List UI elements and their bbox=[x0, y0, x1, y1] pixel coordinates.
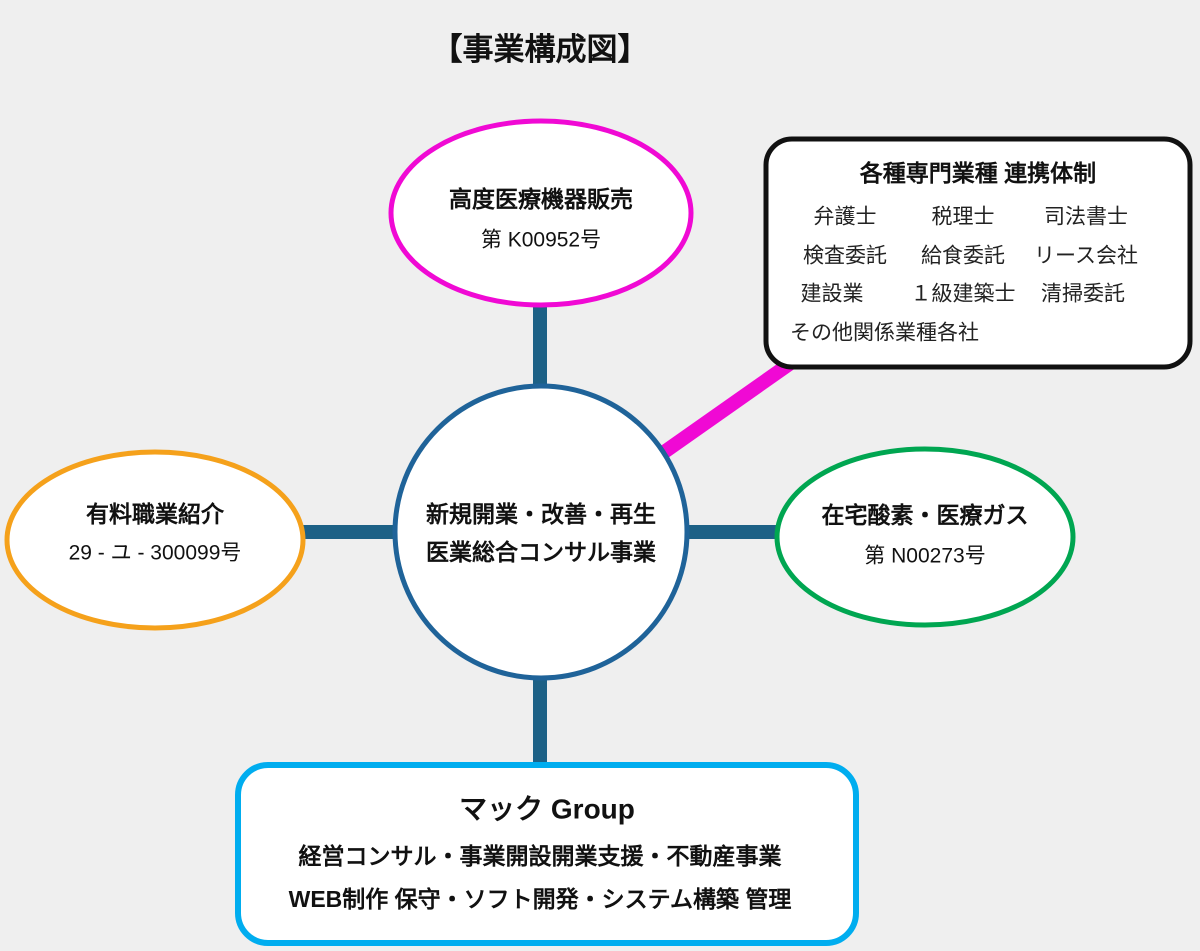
partners-cell-r1c2: リース会社 bbox=[1034, 245, 1138, 268]
node-home-oxygen-medical-gas-license: 第 N00273号 bbox=[864, 545, 985, 568]
diagram-canvas: 【事業構成図】 高度医療機器販売 第 K00952号 有料職業紹介 29 - ユ… bbox=[0, 0, 1200, 951]
connector-center-to-partners bbox=[660, 360, 795, 455]
partners-box[interactable]: 各種専門業種 連携体制 弁護士 税理士 司法書士 検査委託 給食委託 リース会社… bbox=[766, 139, 1190, 367]
node-advanced-medical-equipment-shape bbox=[391, 121, 691, 305]
group-box[interactable]: マック Group 経営コンサル・事業開設開業支援・不動産事業 WEB制作 保守… bbox=[238, 765, 856, 943]
node-center-consulting[interactable]: 新規開業・改善・再生 医業総合コンサル事業 bbox=[395, 386, 687, 678]
group-box-title: マック Group bbox=[459, 793, 635, 824]
node-center-consulting-line-1: 新規開業・改善・再生 bbox=[426, 501, 656, 527]
node-center-consulting-line-2: 医業総合コンサル事業 bbox=[426, 539, 657, 565]
node-paid-job-placement-shape bbox=[7, 452, 303, 628]
partners-cell-r1c1: 給食委託 bbox=[921, 245, 1005, 268]
partners-cell-r2c2: 清掃委託 bbox=[1041, 283, 1125, 306]
node-advanced-medical-equipment-license: 第 K00952号 bbox=[481, 229, 601, 252]
business-structure-diagram: 【事業構成図】 高度医療機器販売 第 K00952号 有料職業紹介 29 - ユ… bbox=[0, 0, 1200, 951]
partners-cell-r0c2: 司法書士 bbox=[1044, 206, 1128, 229]
node-advanced-medical-equipment-title: 高度医療機器販売 bbox=[449, 186, 633, 212]
partners-cell-r0c0: 弁護士 bbox=[814, 206, 877, 229]
partners-box-title: 各種専門業種 連携体制 bbox=[859, 160, 1096, 186]
node-home-oxygen-medical-gas-shape bbox=[777, 449, 1073, 625]
group-box-line-1: 経営コンサル・事業開設開業支援・不動産事業 bbox=[299, 843, 783, 869]
page-title: 【事業構成図】 bbox=[432, 32, 649, 67]
node-paid-job-placement-title: 有料職業紹介 bbox=[86, 501, 225, 527]
partners-box-footer: その他関係業種各社 bbox=[790, 322, 979, 345]
node-paid-job-placement-license: 29 - ユ - 300099号 bbox=[69, 542, 242, 565]
node-home-oxygen-medical-gas[interactable]: 在宅酸素・医療ガス 第 N00273号 bbox=[777, 449, 1073, 625]
node-paid-job-placement[interactable]: 有料職業紹介 29 - ユ - 300099号 bbox=[7, 452, 303, 628]
partners-cell-r2c1: １級建築士 bbox=[911, 283, 1016, 306]
group-box-line-2: WEB制作 保守・ソフト開発・システム構築 管理 bbox=[289, 886, 792, 912]
partners-cell-r0c1: 税理士 bbox=[932, 206, 995, 229]
node-advanced-medical-equipment[interactable]: 高度医療機器販売 第 K00952号 bbox=[391, 121, 691, 305]
node-center-consulting-shape bbox=[395, 386, 687, 678]
partners-cell-r1c0: 検査委託 bbox=[803, 245, 887, 268]
node-home-oxygen-medical-gas-title: 在宅酸素・医療ガス bbox=[822, 502, 1029, 528]
partners-cell-r2c0: 建設業 bbox=[801, 283, 864, 306]
